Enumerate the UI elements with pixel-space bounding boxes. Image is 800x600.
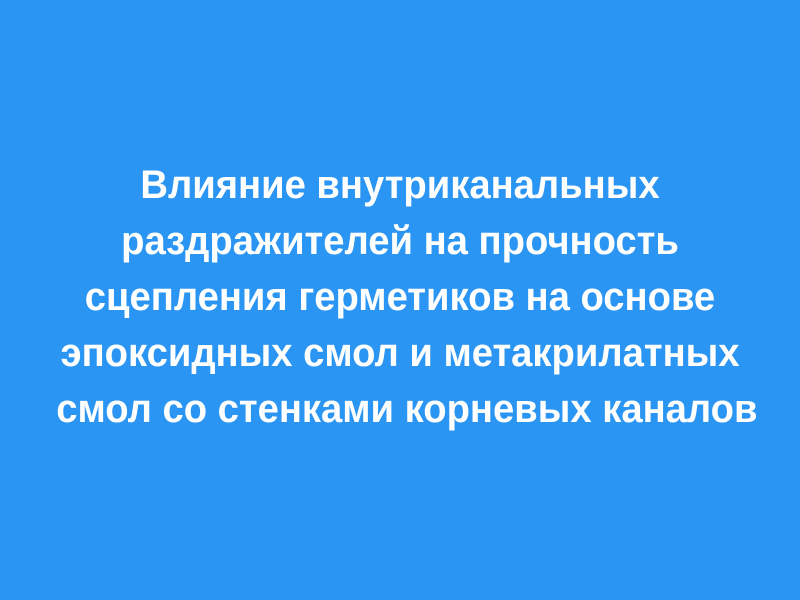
- title-line-4: эпоксидных смол и метакрилатных: [56, 325, 744, 381]
- page-title: Влияние внутриканальных раздражителей на…: [40, 157, 760, 437]
- title-line-2: раздражителей на прочность: [56, 213, 744, 269]
- title-line-1: Влияние внутриканальных: [56, 157, 744, 213]
- title-line-3: сцепления герметиков на основе: [56, 269, 744, 325]
- title-slide: Влияние внутриканальных раздражителей на…: [0, 0, 800, 600]
- title-line-5: смол со стенками корневых каналов: [56, 381, 744, 437]
